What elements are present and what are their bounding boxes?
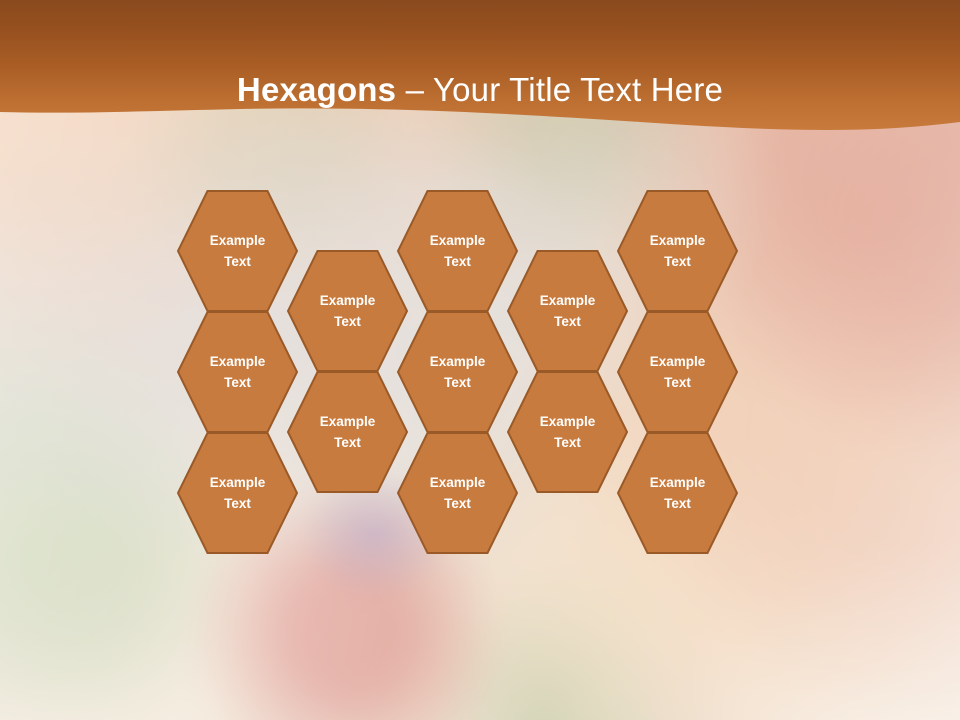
hexagon-grid: ExampleTextExampleTextExampleTextExample… bbox=[0, 0, 960, 720]
hexagon-shape[interactable]: ExampleText bbox=[397, 190, 518, 312]
hexagon-shape[interactable]: ExampleText bbox=[397, 311, 518, 433]
hexagon-shape[interactable]: ExampleText bbox=[507, 371, 628, 493]
hexagon-shape[interactable]: ExampleText bbox=[507, 250, 628, 372]
slide-canvas: Hexagons – Your Title Text Here ExampleT… bbox=[0, 0, 960, 720]
hexagon-shape[interactable]: ExampleText bbox=[287, 250, 408, 372]
hexagon-shape[interactable]: ExampleText bbox=[177, 311, 298, 433]
hexagon-shape[interactable]: ExampleText bbox=[617, 190, 738, 312]
hexagon-shape[interactable]: ExampleText bbox=[177, 432, 298, 554]
hexagon-shape[interactable]: ExampleText bbox=[617, 311, 738, 433]
hexagon-shape[interactable]: ExampleText bbox=[617, 432, 738, 554]
hexagon-shape[interactable]: ExampleText bbox=[177, 190, 298, 312]
hexagon-shape[interactable]: ExampleText bbox=[397, 432, 518, 554]
hexagon-shape[interactable]: ExampleText bbox=[287, 371, 408, 493]
